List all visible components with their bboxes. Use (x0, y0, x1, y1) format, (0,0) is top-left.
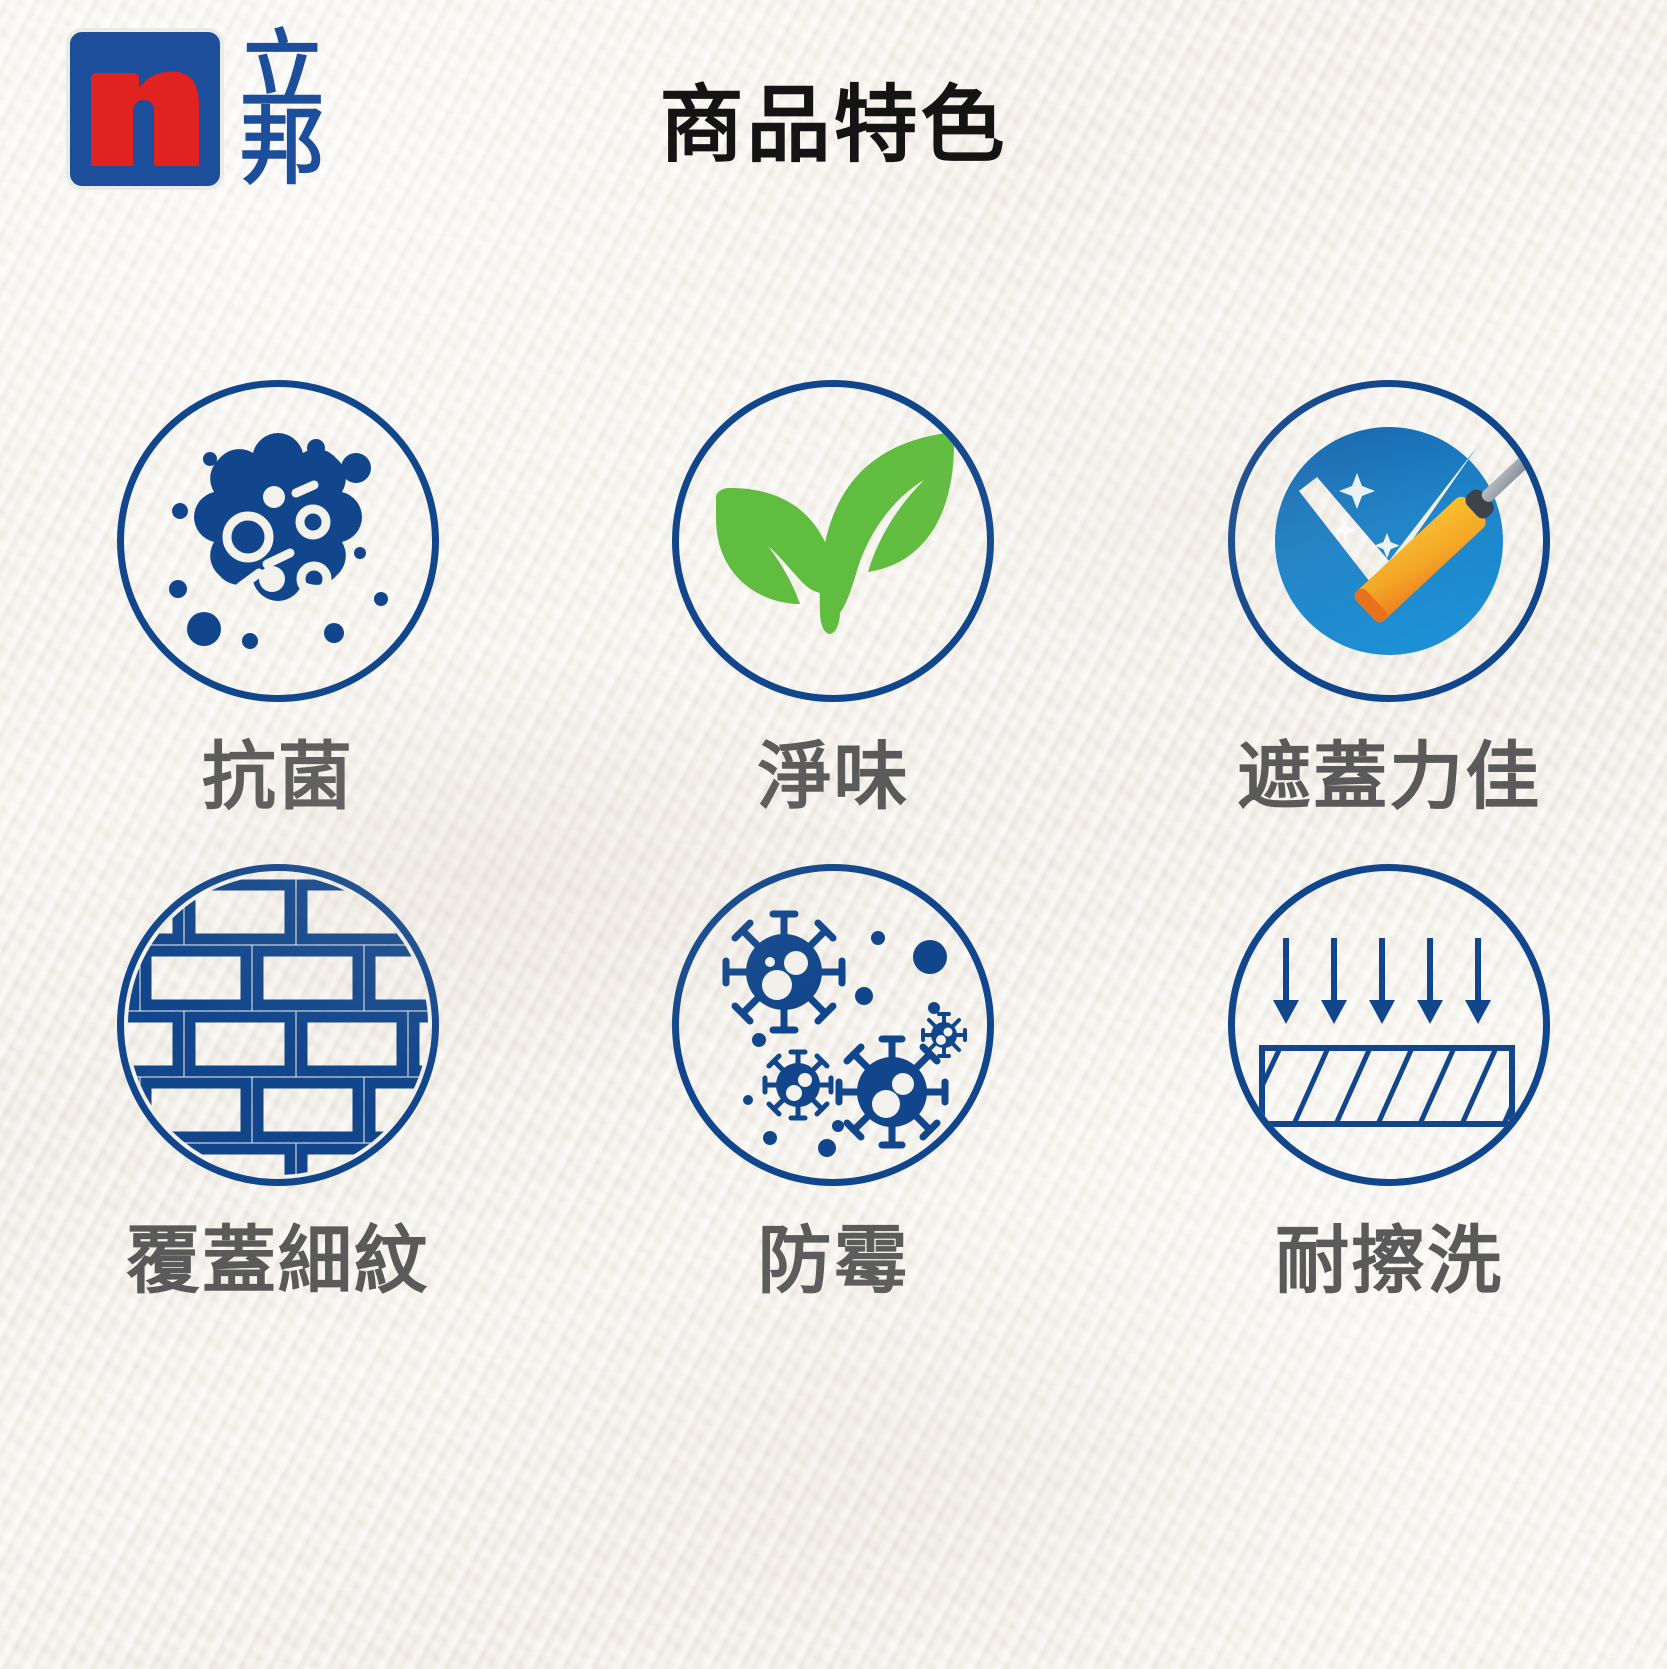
feature-icon-circle (117, 380, 439, 702)
green-leaves-icon (708, 426, 958, 656)
feature-covers-hairline-cracks[interactable]: 覆蓋細紋 (0, 864, 556, 1298)
feature-icon-circle (117, 864, 439, 1186)
feature-label: 耐擦洗 (1275, 1224, 1503, 1298)
feature-label: 遮蓋力佳 (1237, 740, 1541, 814)
paint-roller-coverage-icon (1239, 391, 1539, 691)
coating-arrows-icon (1254, 900, 1524, 1150)
feature-label: 防霉 (757, 1224, 909, 1298)
product-features-infographic: 立 邦 商品特色 (0, 0, 1667, 1669)
feature-antibacterial[interactable]: 抗菌 (0, 380, 556, 814)
feature-odor-free[interactable]: 淨味 (556, 380, 1112, 814)
feature-icon-circle (1228, 864, 1550, 1186)
feature-label: 抗菌 (202, 740, 354, 814)
feature-anti-mold[interactable]: 防霉 (556, 864, 1112, 1298)
page-title: 商品特色 (0, 58, 1667, 179)
brick-wall-icon (124, 871, 432, 1179)
feature-icon-circle (672, 864, 994, 1186)
feature-label: 淨味 (757, 740, 909, 814)
feature-high-coverage[interactable]: 遮蓋力佳 (1111, 380, 1667, 814)
feature-grid: 抗菌 淨味 (0, 380, 1667, 1298)
feature-label: 覆蓋細紋 (126, 1224, 430, 1298)
header: 立 邦 商品特色 (0, 0, 1667, 215)
feature-icon-circle (672, 380, 994, 702)
feature-scrub-resistant[interactable]: 耐擦洗 (1111, 864, 1667, 1298)
mold-spores-icon (688, 880, 978, 1170)
germ-blob-icon (138, 401, 418, 681)
feature-icon-circle (1228, 380, 1550, 702)
